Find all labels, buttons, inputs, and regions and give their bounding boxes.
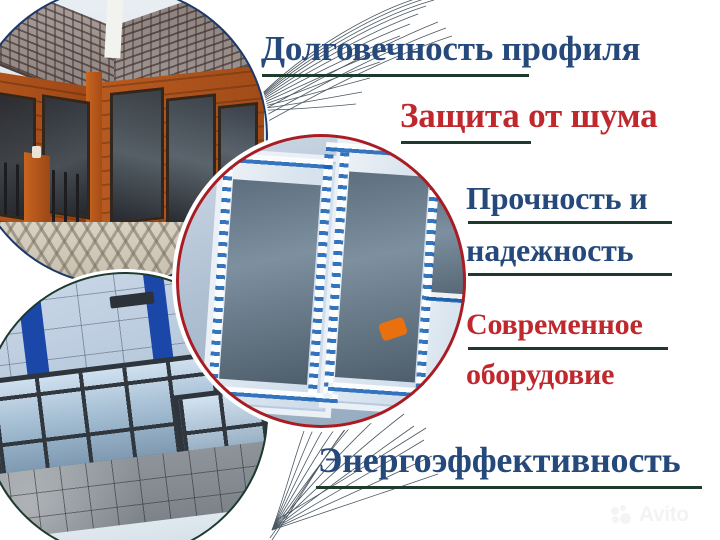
- headline-strength-line2: надежность: [466, 232, 633, 269]
- house-window: [110, 87, 164, 225]
- window-glass: [219, 179, 321, 385]
- avito-watermark: Avito: [611, 500, 711, 528]
- avito-logo-icon: [611, 505, 634, 524]
- headline-underline: [401, 141, 531, 144]
- headline-strength-line1: Прочность и: [466, 180, 647, 217]
- advertisement-poster: Долговечность профиля Защита от шума Про…: [0, 0, 720, 540]
- roof-ridge: [104, 0, 123, 58]
- window-glass: [335, 171, 429, 382]
- headline-underline: [262, 74, 529, 77]
- headline-underline: [316, 486, 702, 489]
- headline-noise-protection: Защита от шума: [400, 96, 657, 136]
- headline-modern-equipment-line2: оборудовие: [466, 358, 614, 392]
- headline-modern-equipment-line1: Современное: [466, 308, 643, 342]
- photo-circle-pvc-windows: [176, 134, 466, 428]
- pvc-windows-scene: [176, 134, 466, 428]
- headline-underline: [468, 273, 672, 276]
- porch-lamp: [32, 146, 41, 158]
- headline-energy-efficiency: Энергоэффективность: [318, 439, 680, 481]
- headline-underline: [468, 347, 668, 350]
- headline-durability: Долговечность профиля: [261, 29, 640, 69]
- headline-underline: [468, 221, 672, 224]
- avito-wordmark: Avito: [639, 504, 689, 525]
- porch-post: [24, 152, 50, 228]
